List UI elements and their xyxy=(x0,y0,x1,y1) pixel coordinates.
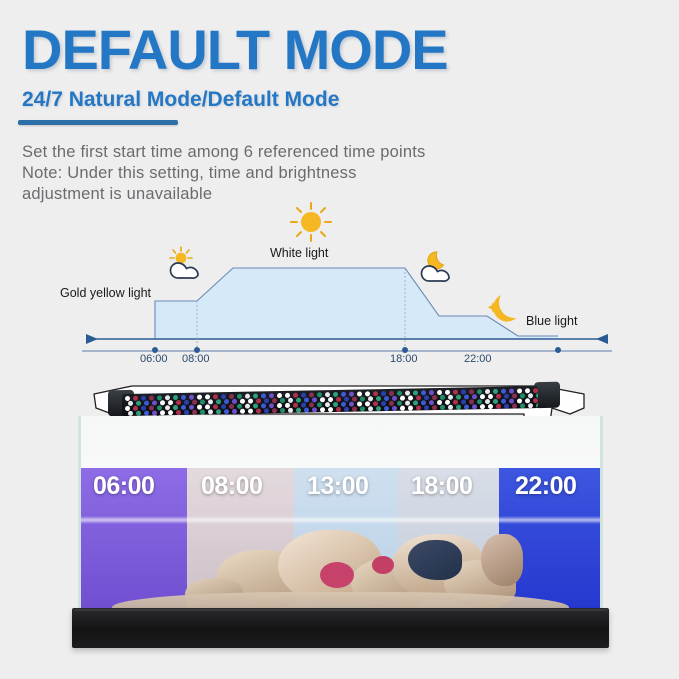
led-dot xyxy=(336,407,341,412)
led-dot xyxy=(328,407,333,412)
led-dot xyxy=(392,406,397,411)
led-dot xyxy=(496,404,501,409)
x-tick-label-2200: 22:00 xyxy=(464,353,492,365)
description-block: Set the first start time among 6 referen… xyxy=(22,142,582,205)
product-infographic: DEFAULT MODE 24/7 Natural Mode/Default M… xyxy=(0,0,679,679)
led-dot xyxy=(408,405,413,410)
led-dot xyxy=(232,409,237,414)
led-dot xyxy=(456,405,461,410)
crescent-moon-icon xyxy=(484,290,532,330)
led-dot xyxy=(352,407,357,412)
tank-base xyxy=(72,608,609,648)
x-tick-label-0800: 08:00 xyxy=(182,353,210,365)
tank-time-label-2200: 22:00 xyxy=(515,472,576,501)
led-dot xyxy=(240,409,245,414)
tank-water: 06:00 08:00 13:00 18:00 22:00 xyxy=(81,468,600,614)
description-line-2: Note: Under this setting, time and brigh… xyxy=(22,163,582,184)
tank-time-label-0800: 08:00 xyxy=(201,472,262,501)
tank-time-label-1300: 13:00 xyxy=(307,472,368,501)
led-dot xyxy=(360,406,365,411)
led-dot xyxy=(400,406,405,411)
led-dot xyxy=(504,404,509,409)
page-title: DEFAULT MODE xyxy=(22,22,662,78)
led-dot xyxy=(536,403,539,408)
tank-glass: 06:00 08:00 13:00 18:00 22:00 xyxy=(78,416,603,614)
led-dot xyxy=(416,405,421,410)
led-dot xyxy=(384,406,389,411)
sun-behind-cloud-icon xyxy=(164,244,220,286)
led-dot xyxy=(512,403,517,408)
led-dot xyxy=(368,406,373,411)
moon-behind-cloud-icon xyxy=(416,248,472,288)
led-dot xyxy=(520,403,525,408)
led-dot xyxy=(152,410,157,415)
led-dot xyxy=(448,405,453,410)
annotation-gold-yellow-light: Gold yellow light xyxy=(60,286,151,300)
led-dot xyxy=(288,408,293,413)
annotation-white-light: White light xyxy=(270,246,328,260)
led-dot xyxy=(488,404,493,409)
water-surface-line xyxy=(81,516,600,524)
led-dot xyxy=(208,409,213,414)
led-dot xyxy=(256,408,261,413)
x-tick-label-1800: 18:00 xyxy=(390,353,418,365)
header-divider xyxy=(18,120,178,125)
light-schedule-chart: Gold yellow light White light Blue light… xyxy=(60,198,620,370)
sun-icon xyxy=(288,200,334,244)
led-dot xyxy=(144,411,149,416)
led-dot xyxy=(472,404,477,409)
led-dot xyxy=(272,408,277,413)
led-dot xyxy=(248,409,253,414)
description-line-1: Set the first start time among 6 referen… xyxy=(22,142,582,163)
tank-time-label-0600: 06:00 xyxy=(93,472,154,501)
led-dot xyxy=(296,408,301,413)
led-dot xyxy=(304,407,309,412)
led-dot xyxy=(424,405,429,410)
led-dot xyxy=(440,405,445,410)
page-subtitle: 24/7 Natural Mode/Default Mode xyxy=(22,88,662,112)
led-dot xyxy=(192,410,197,415)
led-dot xyxy=(184,410,189,415)
led-dot xyxy=(168,410,173,415)
led-dot xyxy=(312,407,317,412)
led-dot xyxy=(160,410,165,415)
led-dot xyxy=(200,409,205,414)
led-dot xyxy=(320,407,325,412)
tank-time-label-1800: 18:00 xyxy=(411,472,472,501)
led-dot xyxy=(480,404,485,409)
led-dot xyxy=(264,408,269,413)
annotation-blue-light: Blue light xyxy=(526,314,577,328)
led-dot xyxy=(432,405,437,410)
aquarium-illustration: 06:00 08:00 13:00 18:00 22:00 xyxy=(72,378,609,650)
chart-svg xyxy=(60,198,620,370)
led-dot xyxy=(376,406,381,411)
led-dot xyxy=(224,409,229,414)
header: DEFAULT MODE 24/7 Natural Mode/Default M… xyxy=(22,22,662,112)
led-dot xyxy=(216,409,221,414)
led-dot xyxy=(464,404,469,409)
x-tick-label-0600: 06:00 xyxy=(140,353,168,365)
led-dot xyxy=(344,407,349,412)
led-dot xyxy=(528,403,533,408)
tick-dot-end xyxy=(555,347,561,353)
led-dot xyxy=(176,410,181,415)
led-dot xyxy=(280,408,285,413)
